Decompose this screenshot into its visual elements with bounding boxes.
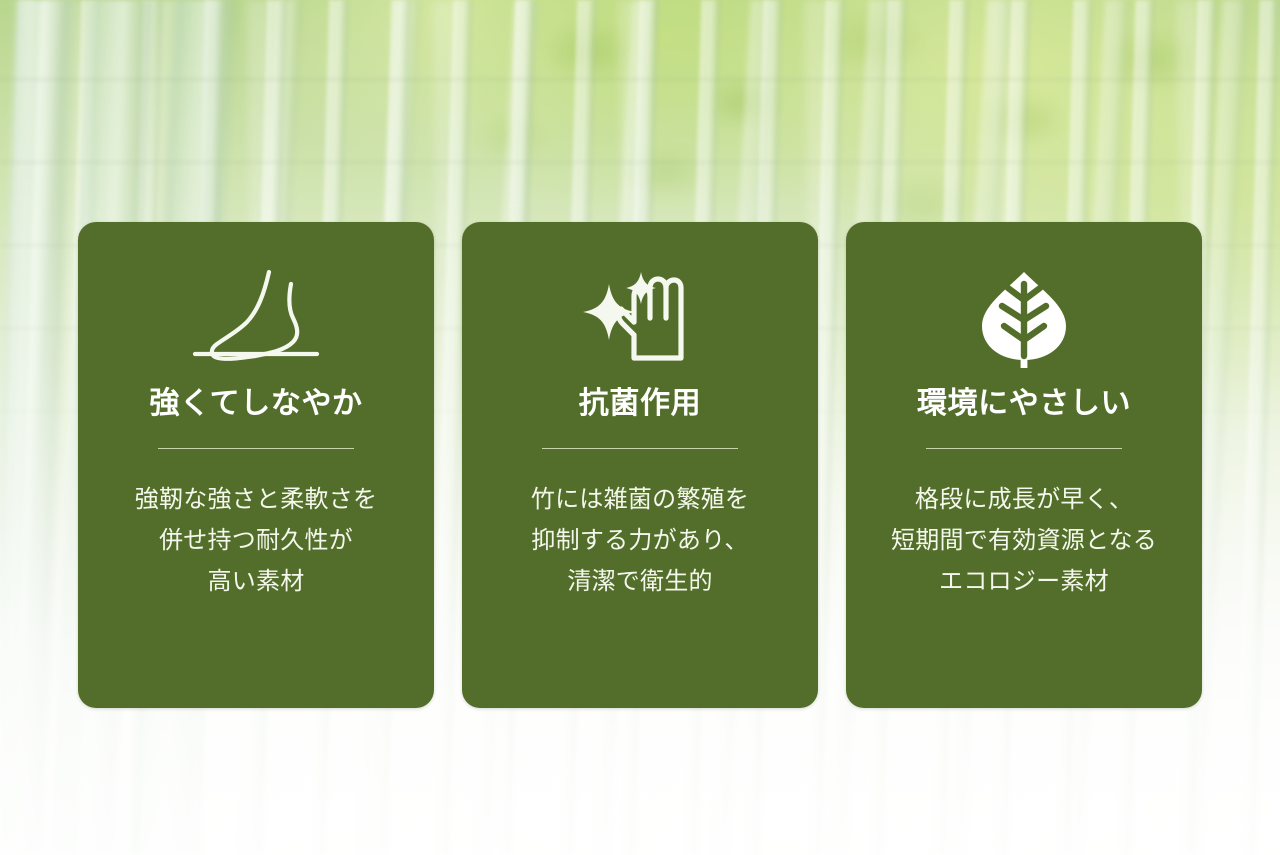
feature-card-antibacterial: 抗菌作用 竹には雑菌の繁殖を 抑制する力があり、 清潔で衛生的 — [462, 222, 818, 708]
card-description-line: 抑制する力があり、 — [531, 520, 749, 561]
feature-card-row: 強くてしなやか 強靭な強さと柔軟さを 併せ持つ耐久性が 高い素材 — [78, 222, 1202, 708]
sparkling-hand-icon — [577, 266, 703, 370]
card-description-line: 短期間で有効資源となる — [891, 520, 1157, 561]
card-divider — [542, 448, 738, 449]
leaf-icon — [972, 266, 1076, 370]
feature-card-strength: 強くてしなやか 強靭な強さと柔軟さを 併せ持つ耐久性が 高い素材 — [78, 222, 434, 708]
card-description: 強靭な強さと柔軟さを 併せ持つ耐久性が 高い素材 — [135, 479, 377, 602]
card-description-line: 竹には雑菌の繁殖を — [531, 479, 749, 520]
card-description-line: 清潔で衛生的 — [531, 561, 749, 602]
card-description-line: 強靭な強さと柔軟さを — [135, 479, 377, 520]
foot-icon — [185, 266, 327, 370]
card-description-line: 併せ持つ耐久性が — [135, 520, 377, 561]
card-title: 抗菌作用 — [579, 386, 701, 422]
card-description-line: 高い素材 — [135, 561, 377, 602]
page-background: 強くてしなやか 強靭な強さと柔軟さを 併せ持つ耐久性が 高い素材 — [0, 0, 1280, 855]
card-description: 竹には雑菌の繁殖を 抑制する力があり、 清潔で衛生的 — [531, 479, 749, 602]
card-title: 強くてしなやか — [149, 386, 362, 422]
card-divider — [158, 448, 354, 449]
card-divider — [926, 448, 1122, 449]
card-title: 環境にやさしい — [917, 386, 1131, 422]
feature-card-eco: 環境にやさしい 格段に成長が早く、 短期間で有効資源となる エコロジー素材 — [846, 222, 1202, 708]
card-description-line: エコロジー素材 — [891, 561, 1157, 602]
card-description: 格段に成長が早く、 短期間で有効資源となる エコロジー素材 — [891, 479, 1157, 602]
card-description-line: 格段に成長が早く、 — [891, 479, 1157, 520]
